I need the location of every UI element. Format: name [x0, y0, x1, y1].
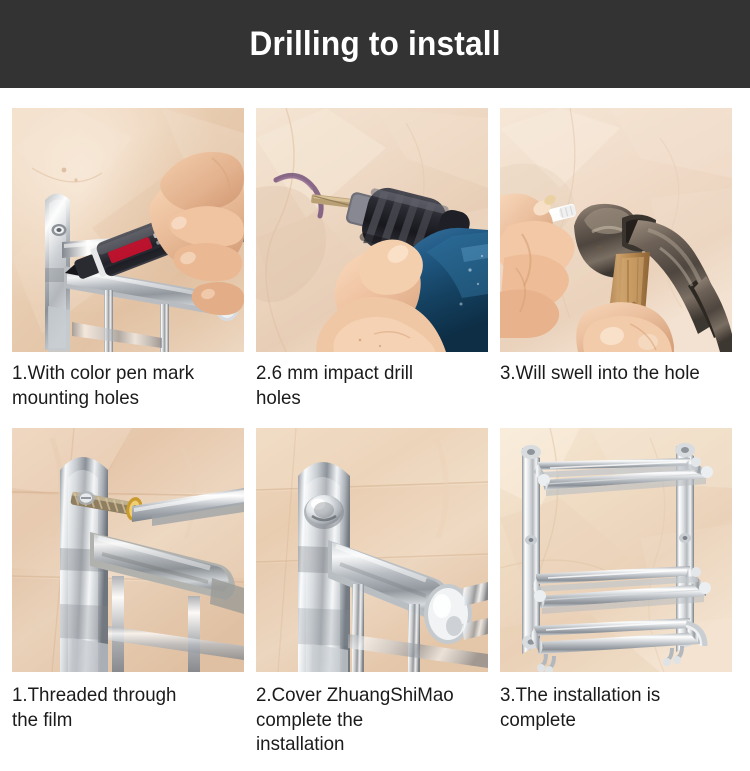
page-title: Drilling to install	[249, 27, 500, 61]
product-instruction-graphic: Drilling to install	[0, 0, 750, 771]
step-card-1: 1.With color pen mark mounting holes	[12, 108, 244, 410]
step-photo-2	[256, 108, 488, 352]
step-photo-5	[256, 428, 488, 672]
header-bar: Drilling to install	[0, 0, 750, 88]
step-card-3: 3.Will swell into the hole	[500, 108, 732, 410]
step-caption-1: 1.With color pen mark mounting holes	[12, 352, 235, 410]
step-caption-4: 1.Threaded through the film	[12, 672, 235, 732]
hammer-anchor-illustration	[500, 108, 732, 352]
steps-row-2: 1.Threaded through the film	[12, 428, 740, 757]
step-photo-3	[500, 108, 732, 352]
impact-drill-illustration	[256, 108, 488, 352]
finished-rack-illustration	[500, 428, 732, 672]
step-caption-2: 2.6 mm impact drill holes	[256, 352, 479, 410]
steps-row-1: 1.With color pen mark mounting holes	[12, 108, 740, 410]
step-card-6: 3.The installation is complete	[500, 428, 732, 757]
step-caption-6: 3.The installation is complete	[500, 672, 723, 732]
steps-grid: 1.With color pen mark mounting holes	[12, 108, 740, 757]
step-caption-5: 2.Cover ZhuangShiMao complete the instal…	[256, 672, 479, 757]
step-photo-1	[12, 108, 244, 352]
step-photo-6	[500, 428, 732, 672]
marker-pen-marking-illustration	[12, 108, 244, 352]
screw-threaded-illustration	[12, 428, 244, 672]
step-card-5: 2.Cover ZhuangShiMao complete the instal…	[256, 428, 488, 757]
step-caption-3: 3.Will swell into the hole	[500, 352, 723, 386]
step-card-4: 1.Threaded through the film	[12, 428, 244, 757]
step-photo-4	[12, 428, 244, 672]
step-card-2: 2.6 mm impact drill holes	[256, 108, 488, 410]
decorative-cap-illustration	[256, 428, 488, 672]
